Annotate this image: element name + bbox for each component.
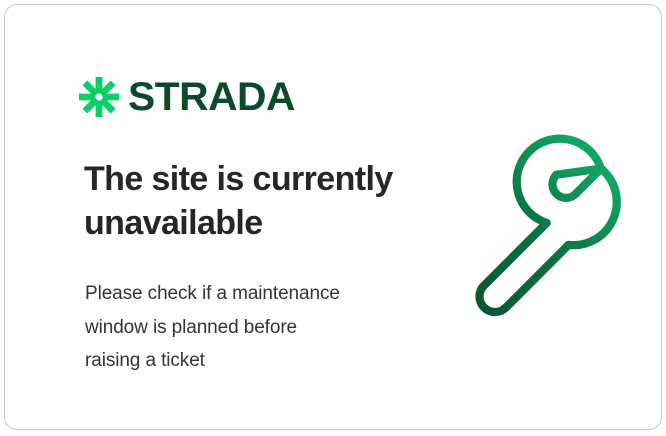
maintenance-illustration	[457, 157, 623, 317]
status-description: Please check if a maintenance window is …	[85, 277, 395, 378]
brand-lockup: STRADA	[79, 73, 292, 121]
wrench-icon	[457, 157, 623, 317]
description-line: Please check if a maintenance	[85, 277, 395, 311]
asterisk-burst-icon	[79, 77, 119, 117]
description-line: raising a ticket	[85, 344, 395, 378]
status-card: STRADA The site is currently unavailable…	[4, 4, 662, 430]
description-line: window is planned before	[85, 311, 395, 345]
status-page: STRADA The site is currently unavailable…	[0, 0, 666, 436]
page-title: The site is currently unavailable	[84, 157, 414, 245]
strada-logo-mark	[79, 77, 119, 117]
brand-wordmark: STRADA	[128, 77, 295, 117]
